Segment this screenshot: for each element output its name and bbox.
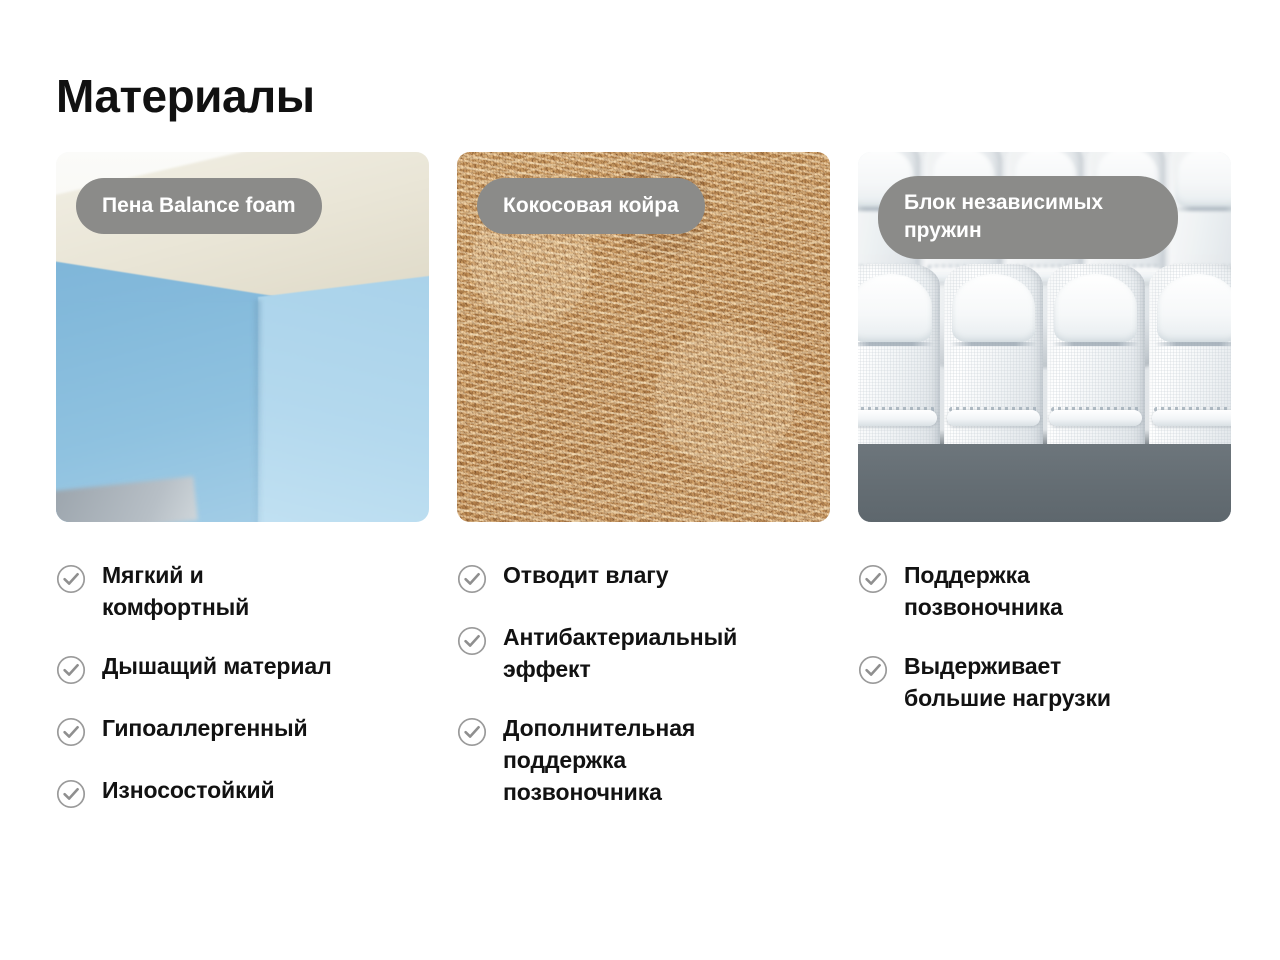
spring-pocket-cap	[1157, 274, 1231, 342]
feature-item: Отводит влагу	[457, 560, 830, 594]
check-circle-icon	[56, 779, 86, 809]
feature-label: Износостойкий	[102, 775, 275, 807]
material-cards-row: Пена Balance foam Кокосовая койра	[56, 152, 1232, 522]
feature-label: Отводит влагу	[503, 560, 668, 592]
feature-item: Поддержка позвоночника	[858, 560, 1231, 623]
spring-floor-surface	[858, 444, 1231, 522]
feature-label: Мягкий и комфортный	[102, 560, 249, 623]
feature-label: Антибактериальный эффект	[503, 622, 737, 685]
feature-item: Гипоаллергенный	[56, 713, 429, 747]
materials-slide: Материалы Пена Balance foam	[0, 0, 1280, 960]
check-circle-icon	[457, 564, 487, 594]
page-title: Материалы	[56, 72, 315, 120]
feature-column-foam: Мягкий и комфортный Дышащий материал Гип…	[56, 560, 429, 837]
feature-item: Дышащий материал	[56, 651, 429, 685]
card-badge-springs: Блок независимых пружин	[878, 176, 1178, 259]
spring-pocket-stitch	[949, 407, 1037, 412]
feature-label: Поддержка позвоночника	[904, 560, 1063, 623]
feature-label: Гипоаллергенный	[102, 713, 308, 745]
check-circle-icon	[457, 717, 487, 747]
spring-pocket-stitch	[1051, 407, 1139, 412]
card-badge-coir: Кокосовая койра	[477, 178, 705, 234]
spring-pocket-cap	[1054, 274, 1137, 342]
feature-label: Дополнительная поддержка позвоночника	[503, 713, 695, 808]
check-circle-icon	[858, 564, 888, 594]
check-circle-icon	[858, 655, 888, 685]
feature-item: Дополнительная поддержка позвоночника	[457, 713, 830, 808]
feature-item: Антибактериальный эффект	[457, 622, 830, 685]
feature-column-springs: Поддержка позвоночника Выдерживает больш…	[858, 560, 1231, 837]
foam-blue-right-face	[258, 272, 429, 522]
feature-item: Мягкий и комфортный	[56, 560, 429, 623]
feature-column-coir: Отводит влагу Антибактериальный эффект Д…	[457, 560, 830, 837]
spring-pocket-cap	[952, 274, 1035, 342]
feature-item: Износостойкий	[56, 775, 429, 809]
feature-label: Выдерживает большие нагрузки	[904, 651, 1111, 714]
spring-pocket-stitch	[858, 407, 935, 412]
feature-item: Выдерживает большие нагрузки	[858, 651, 1231, 714]
check-circle-icon	[56, 655, 86, 685]
feature-columns: Мягкий и комфортный Дышащий материал Гип…	[56, 560, 1232, 837]
spring-pocket-cap	[858, 274, 932, 342]
material-card-foam[interactable]: Пена Balance foam	[56, 152, 429, 522]
material-card-springs[interactable]: Блок независимых пружин	[858, 152, 1231, 522]
check-circle-icon	[457, 626, 487, 656]
check-circle-icon	[56, 564, 86, 594]
feature-label: Дышащий материал	[102, 651, 332, 683]
material-card-coir[interactable]: Кокосовая койра	[457, 152, 830, 522]
foam-corner-edge	[254, 300, 261, 522]
check-circle-icon	[56, 717, 86, 747]
card-badge-foam: Пена Balance foam	[76, 178, 322, 234]
spring-pocket-stitch	[1154, 407, 1231, 412]
spring-pocket-cap	[1175, 152, 1231, 207]
